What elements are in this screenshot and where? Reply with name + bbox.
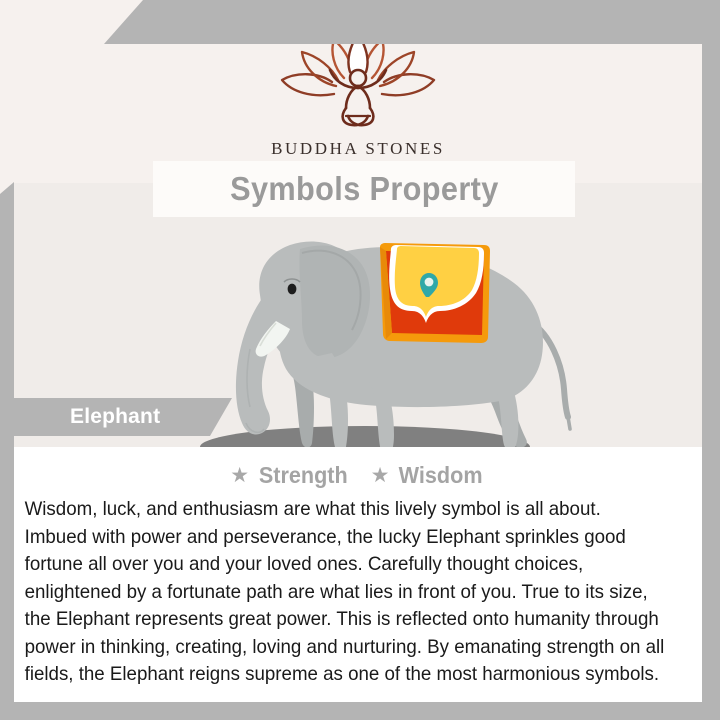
poster-card: BUDDHA STONES Symbols Property [14,44,702,702]
star-icon: ★ [230,465,249,486]
brand-name: BUDDHA STONES [271,139,445,159]
title-band: Symbols Property [153,161,575,217]
frame-top-band [0,0,720,44]
page-title: Symbols Property [230,170,499,208]
star-icon: ★ [371,465,390,486]
frame-right-band [702,0,720,720]
description-panel: ★ Strength ★ Wisdom Wisdom, luck, and en… [14,447,702,702]
description-text: Wisdom, luck, and enthusiasm are what th… [14,496,678,689]
trait-label-strength: Strength [259,462,348,489]
trait-strength: ★ Strength [230,462,350,489]
symbol-label-banner: Elephant [14,398,232,436]
frame-bottom-band [0,702,720,720]
frame-left-band [0,182,14,720]
trait-wisdom: ★ Wisdom [371,462,486,489]
brand-logo: BUDDHA STONES [14,44,702,159]
lotus-meditation-icon [272,44,444,141]
trait-label-wisdom: Wisdom [399,462,483,489]
symbol-property-poster: BUDDHA STONES Symbols Property [0,0,720,720]
traits-row: ★ Strength ★ Wisdom [14,447,702,489]
symbol-label: Elephant [70,405,160,429]
